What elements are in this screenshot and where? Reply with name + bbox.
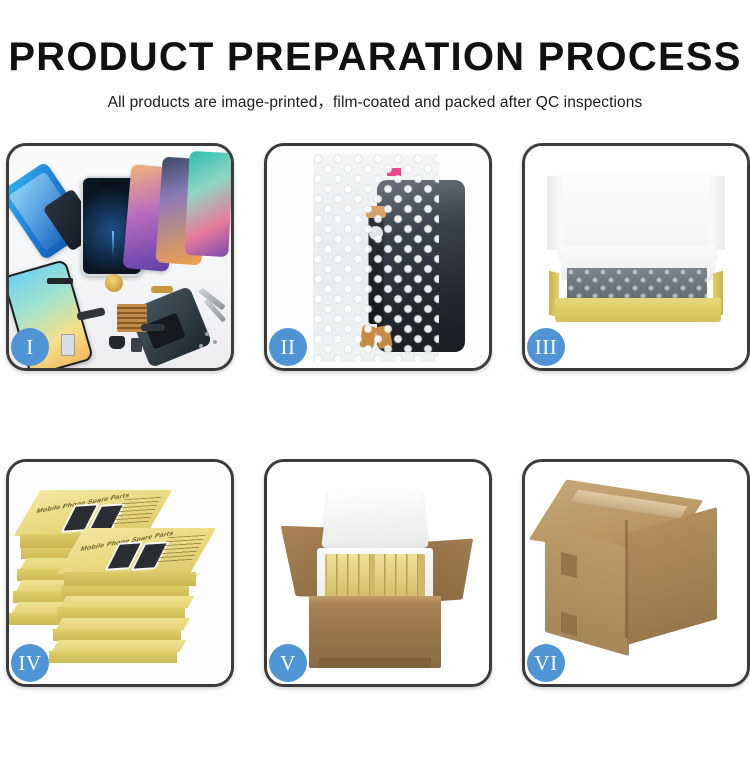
- carton-base-shadow: [319, 658, 431, 668]
- yellow-boxes-inside: [325, 554, 425, 598]
- tray-front-panel: [555, 298, 721, 322]
- page-title: PRODUCT PREPARATION PROCESS: [0, 36, 750, 78]
- step-badge-6: VI: [527, 644, 565, 682]
- inner-box-5: [375, 554, 385, 598]
- speaker-coil-part: [105, 274, 123, 292]
- stacked-box-f4: [55, 640, 183, 662]
- connector-pad: [369, 226, 383, 240]
- process-step-5-panel[interactable]: V: [264, 459, 492, 687]
- box-front-face: [49, 651, 177, 663]
- stacked-box-f3: [59, 618, 187, 640]
- process-step-3-panel[interactable]: III: [522, 143, 750, 371]
- step-badge-4: IV: [11, 644, 49, 682]
- battery-shape: [145, 313, 186, 350]
- notch-shape: [101, 181, 123, 186]
- foam-cooler-lid: [321, 490, 429, 548]
- inner-box-7: [397, 554, 407, 598]
- process-step-6-panel[interactable]: VI: [522, 459, 750, 687]
- step-badge-2: II: [269, 328, 307, 366]
- carton-seam-upper: [561, 552, 577, 579]
- carton-rim: [309, 596, 441, 605]
- spec-text-lines: [155, 535, 206, 563]
- step-badge-5: V: [269, 644, 307, 682]
- process-grid: I II: [0, 143, 750, 775]
- earpiece-bar: [47, 278, 73, 284]
- teal-gradient-phone: [184, 151, 231, 257]
- product-preparation-page: PRODUCT PREPARATION PROCESS All products…: [0, 0, 750, 750]
- pink-seal-label: [387, 168, 401, 176]
- printed-lid-face: Mobile Phone Spare Parts: [58, 528, 217, 574]
- screw-3: [199, 344, 203, 348]
- flex-cable-3: [141, 324, 165, 331]
- inner-box-2: [338, 554, 348, 598]
- inner-box-8: [408, 554, 418, 598]
- lid-flap-right: [709, 176, 725, 250]
- brown-carton-body: [309, 596, 441, 668]
- carton-vertical-edge: [625, 520, 628, 638]
- inner-box-6: [386, 554, 396, 598]
- bubble-wrap-bag: [313, 154, 439, 362]
- inner-box-4: [360, 554, 370, 598]
- spec-text-lines: [111, 497, 162, 525]
- process-row-2: Mobile Phone Spare Parts: [0, 459, 750, 681]
- connector-tape: [366, 206, 386, 218]
- step-badge-1: I: [11, 328, 49, 366]
- page-subtitle: All products are image-printed，film-coat…: [0, 90, 750, 112]
- screw-1: [205, 332, 209, 336]
- screw-2: [213, 340, 217, 344]
- sim-tray-part: [61, 334, 75, 356]
- inner-box-3: [349, 554, 359, 598]
- lid-side-face: [64, 572, 196, 586]
- process-step-4-panel[interactable]: Mobile Phone Spare Parts: [6, 459, 234, 687]
- speaker-module: [109, 336, 125, 349]
- spark-graphic: [112, 231, 114, 257]
- lcd-screen-assembly: [377, 180, 465, 352]
- inner-box-1: [327, 554, 337, 598]
- printed-box-front: Mobile Phone Spare Parts: [71, 528, 203, 592]
- lid-flap-left: [547, 176, 563, 250]
- camera-module: [131, 338, 142, 352]
- process-row-1: I II: [0, 143, 750, 365]
- stacked-box-f2: [63, 596, 191, 618]
- flex-cable-2: [151, 286, 173, 293]
- step-badge-3: III: [527, 328, 565, 366]
- process-step-1-panel[interactable]: I: [6, 143, 234, 371]
- process-step-2-panel[interactable]: II: [264, 143, 492, 371]
- gold-contact-right: [359, 325, 377, 349]
- carton-seam-lower: [561, 612, 577, 637]
- page-header: PRODUCT PREPARATION PROCESS All products…: [0, 0, 750, 112]
